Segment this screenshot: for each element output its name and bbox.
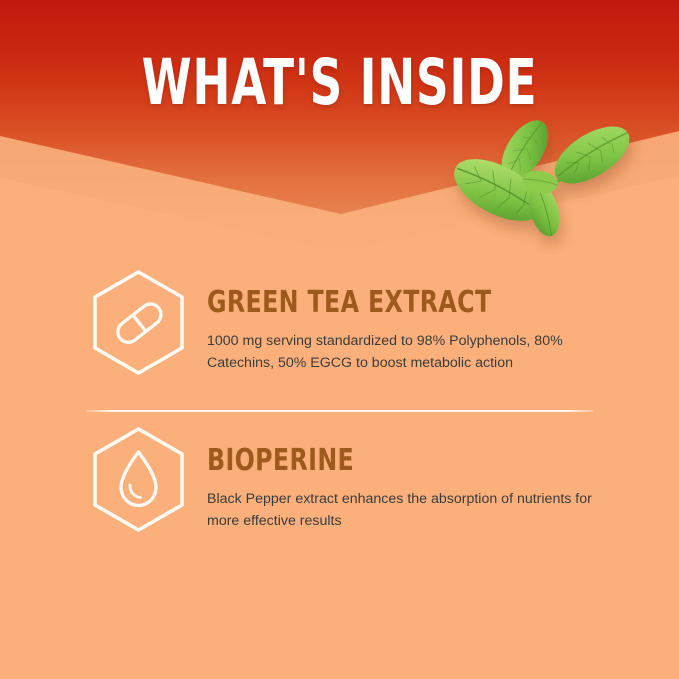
ingredient-icon-hexagon-bioperine bbox=[91, 426, 186, 533]
ingredient-text-green-tea: GREEN TEA EXTRACT 1000 mg serving standa… bbox=[207, 288, 607, 374]
section-divider bbox=[87, 410, 593, 412]
ingredient-text-bioperine: BIOPERINE Black Pepper extract enhances … bbox=[207, 446, 607, 532]
ingredient-heading-bioperine: BIOPERINE bbox=[207, 446, 559, 476]
ingredient-heading-green-tea: GREEN TEA EXTRACT bbox=[207, 288, 559, 318]
page-title: WHAT'S INSIDE bbox=[68, 51, 611, 114]
water-drop-icon bbox=[91, 426, 186, 533]
ingredient-description-bioperine: Black Pepper extract enhances the absorp… bbox=[207, 489, 597, 532]
whats-inside-poster: WHAT'S INSIDE bbox=[0, 0, 679, 679]
ingredient-icon-hexagon-green-tea bbox=[91, 269, 186, 376]
ingredient-row-bioperine: BIOPERINE Black Pepper extract enhances … bbox=[0, 426, 679, 546]
ingredient-row-green-tea-extract: GREEN TEA EXTRACT 1000 mg serving standa… bbox=[0, 266, 679, 386]
capsule-pill-icon bbox=[91, 269, 186, 376]
ingredient-description-green-tea: 1000 mg serving standardized to 98% Poly… bbox=[207, 331, 597, 374]
